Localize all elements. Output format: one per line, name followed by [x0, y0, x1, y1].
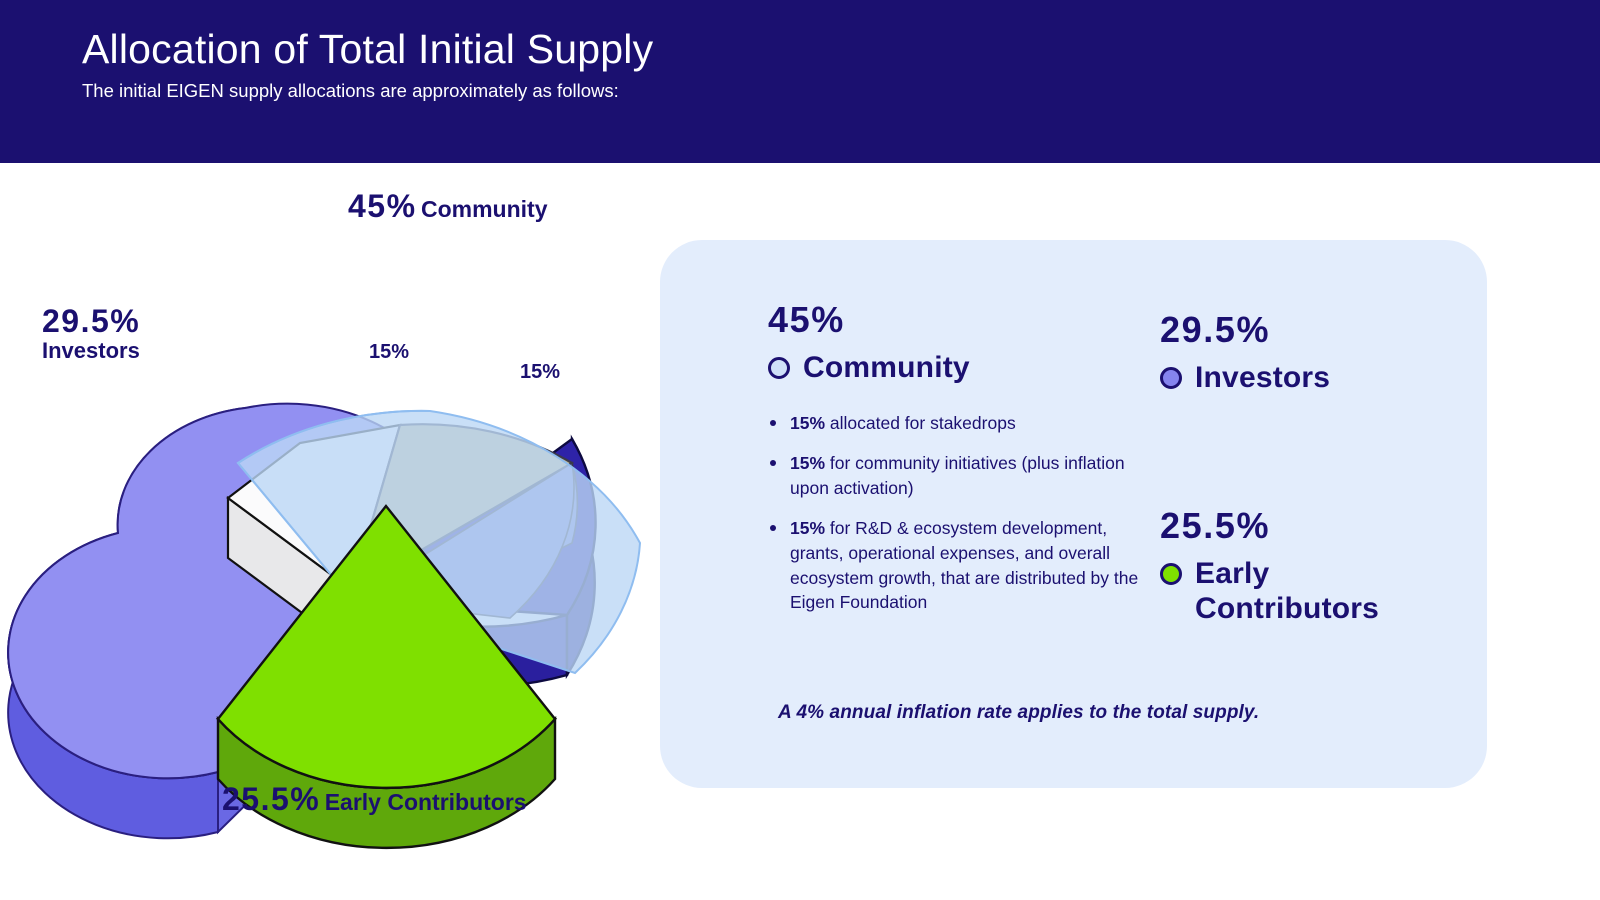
early-contributors-swatch-icon: [1160, 563, 1182, 585]
bullet-1-text: for community initiatives (plus inflatio…: [790, 453, 1125, 498]
community-bullet-list: 15% allocated for stakedrops 15% for com…: [768, 411, 1142, 615]
callout-community: 45% Community: [348, 188, 548, 225]
legend-early-row: Early Contributors: [1160, 556, 1460, 627]
callout-early-pct: 25.5%: [222, 781, 320, 817]
bullet-2-text: for R&D & ecosystem development, grants,…: [790, 518, 1138, 613]
page-subtitle: The initial EIGEN supply allocations are…: [82, 79, 1600, 103]
list-item: 15% for R&D & ecosystem development, gra…: [768, 516, 1142, 615]
list-item: 15% allocated for stakedrops: [768, 411, 1142, 436]
callout-investors-pct: 29.5%: [42, 305, 140, 339]
slice-label-initiatives: 15%: [520, 361, 560, 383]
callout-community-pct: 45%: [348, 188, 417, 224]
callout-early-contributors: 25.5% Early Contributors: [222, 781, 527, 818]
bullet-1-bold: 15%: [790, 453, 825, 473]
allocation-details-panel: 45% Community 15% allocated for stakedro…: [660, 240, 1487, 788]
slice-label-stakedrops: 15%: [369, 341, 409, 363]
bullet-0-text: allocated for stakedrops: [825, 413, 1016, 433]
legend-item-investors: 29.5% Investors: [1160, 312, 1460, 395]
legend-item-early-contributors: 25.5% Early Contributors: [1160, 508, 1460, 627]
slice-label-rnd: 15%: [618, 460, 658, 482]
legend-community-name: Community: [803, 350, 970, 385]
pie-chart-figure: 15% 15% 15% 45% Community 29.5% Investor…: [0, 163, 700, 900]
callout-community-name: Community: [421, 196, 548, 222]
legend-investors-row: Investors: [1160, 360, 1460, 395]
bullet-2-bold: 15%: [790, 518, 825, 538]
legend-item-community: 45% Community 15% allocated for stakedro…: [768, 302, 1158, 630]
page-header: Allocation of Total Initial Supply The i…: [0, 0, 1600, 163]
legend-community-pct: 45%: [768, 302, 1158, 338]
legend-investors-pct: 29.5%: [1160, 312, 1460, 348]
investors-swatch-icon: [1160, 367, 1182, 389]
bullet-0-bold: 15%: [790, 413, 825, 433]
community-swatch-icon: [768, 357, 790, 379]
legend-community-row: Community: [768, 350, 1158, 385]
callout-early-name: Early Contributors: [325, 789, 527, 815]
page-title: Allocation of Total Initial Supply: [82, 26, 1600, 73]
legend-early-pct: 25.5%: [1160, 508, 1460, 544]
callout-investors: 29.5% Investors: [42, 305, 140, 362]
callout-investors-name: Investors: [42, 339, 140, 362]
inflation-footnote: A 4% annual inflation rate applies to th…: [778, 702, 1259, 724]
legend-investors-name: Investors: [1195, 360, 1330, 395]
legend-early-name: Early Contributors: [1195, 556, 1460, 627]
list-item: 15% for community initiatives (plus infl…: [768, 451, 1142, 501]
